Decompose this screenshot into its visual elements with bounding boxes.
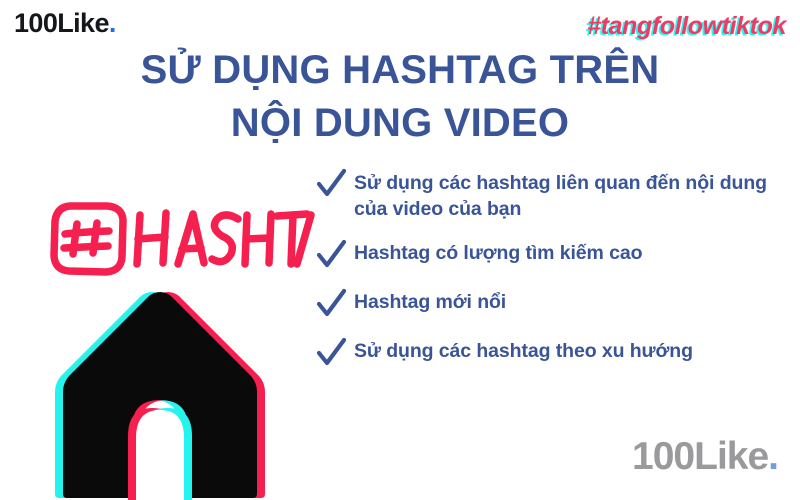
benefits-checklist: Sử dụng các hashtag liên quan đến nội du… — [316, 168, 786, 369]
list-item: Hashtag mới nổi — [316, 287, 786, 320]
check-icon — [316, 168, 347, 200]
page-title-line-2: NỘI DUNG VIDEO — [60, 97, 740, 150]
list-item: Sử dụng các hashtag liên quan đến nội du… — [316, 168, 786, 222]
list-item-label: Hashtag mới nổi — [354, 287, 506, 315]
list-item-label: Sử dụng các hashtag theo xu hướng — [354, 336, 693, 364]
check-icon — [316, 288, 347, 320]
list-item: Hashtag có lượng tìm kiếm cao — [316, 238, 786, 271]
brand-logo-top-name: 100Like — [14, 8, 109, 38]
campaign-hashtag: #tangfollowtiktok — [587, 14, 786, 39]
list-item-label: Hashtag có lượng tìm kiếm cao — [354, 238, 642, 266]
brand-logo-bottom-name: 100Like — [632, 435, 768, 478]
hashtag-box-icon — [54, 206, 123, 272]
check-icon — [316, 239, 347, 271]
tiktok-house-icon — [46, 286, 274, 500]
page-title-line-1: SỬ DỤNG HASHTAG TRÊN — [60, 44, 740, 97]
page-title: SỬ DỤNG HASHTAG TRÊN NỘI DUNG VIDEO — [0, 44, 800, 150]
list-item: Sử dụng các hashtag theo xu hướng — [316, 336, 786, 369]
brand-logo-top-dot: . — [109, 8, 116, 38]
list-item-label: Sử dụng các hashtag liên quan đến nội du… — [354, 168, 786, 222]
brand-logo-top: 100Like. — [14, 10, 116, 37]
hashtag-word-mark — [137, 213, 311, 264]
house-doorway — [128, 408, 192, 500]
brand-logo-bottom: 100Like. — [632, 437, 778, 476]
check-icon — [316, 337, 347, 369]
hashtag-badge-graphic — [44, 196, 316, 280]
brand-logo-bottom-dot: . — [768, 435, 778, 478]
